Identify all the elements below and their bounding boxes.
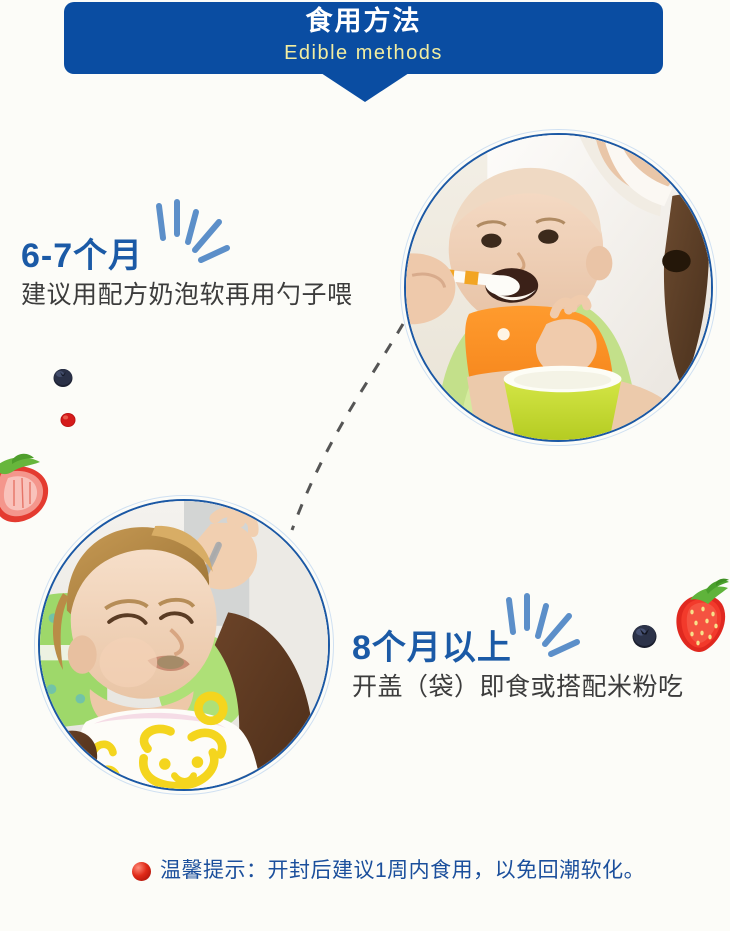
red-berry-icon [60, 412, 76, 428]
step-6-7-months-text: 6-7个月 建议用配方奶泡软再用勺子喂 [21, 236, 353, 312]
step-8-months-photo [38, 499, 330, 791]
warm-tip: 温馨提示：开封后建议1周内食用，以免回潮软化。 [132, 858, 645, 884]
red-sphere-bullet-icon [132, 862, 151, 881]
page-title-en: Edible methods [65, 41, 662, 65]
edible-methods-infographic: 食用方法 Edible methods 6-7个月 建议用配方奶泡软再用勺子喂 … [0, 0, 730, 931]
dashed-connector [270, 310, 430, 540]
strawberry-icon [672, 578, 730, 654]
blueberry-icon [632, 624, 657, 648]
step-6-7-months-age: 6-7个月 [21, 236, 353, 276]
step-6-7-months-photo [404, 133, 713, 442]
step-8-months-description: 开盖（袋）即食或搭配米粉吃 [352, 670, 684, 704]
header-banner: 食用方法 Edible methods [65, 3, 662, 73]
page-title-cn: 食用方法 [65, 5, 662, 37]
strawberry-half-icon [0, 452, 54, 524]
blueberry-icon [53, 368, 73, 387]
warm-tip-text: 温馨提示：开封后建议1周内食用，以免回潮软化。 [160, 858, 645, 884]
step-6-7-months-description: 建议用配方奶泡软再用勺子喂 [21, 278, 353, 312]
down-arrow-notch-icon [321, 73, 409, 102]
